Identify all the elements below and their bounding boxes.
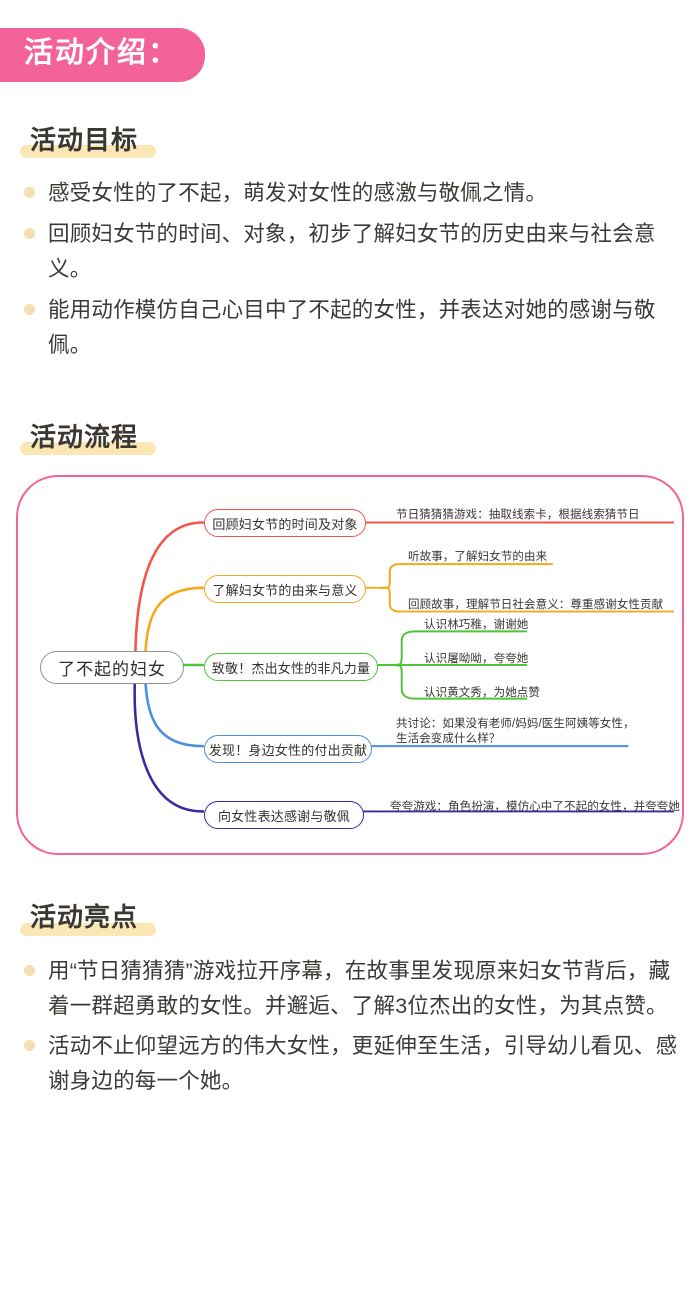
list-item: 感受女性的了不起，萌发对女性的感激与敬佩之情。 <box>24 176 682 211</box>
bullet-dot-icon <box>24 1040 35 1051</box>
mindmap-frame: 了不起的妇女 回顾妇女节的时间及对象 了解妇女节的由来与意义 致敬！杰出女性的非… <box>16 475 684 855</box>
connector-leaf-3-c <box>392 665 416 699</box>
list-item-text: 活动不止仰望远方的伟大女性，更延伸至生活，引导幼儿看见、感谢身边的每一个她。 <box>48 1034 677 1093</box>
connector-branch-5 <box>135 671 203 812</box>
list-item: 能用动作模仿自己心目中了不起的女性，并表达对她的感谢与敬佩。 <box>24 293 682 363</box>
connector-leaf-3-a <box>392 632 416 666</box>
heading-flow: 活动流程 <box>26 423 148 454</box>
mindmap-root-label: 了不起的妇女 <box>58 655 166 680</box>
mindmap-branch-node-2[interactable]: 了解妇女节的由来与意义 <box>204 575 366 603</box>
heading-flow-label: 活动流程 <box>30 422 138 452</box>
connector-leaf-2-a <box>382 564 400 588</box>
heading-goal-label: 活动目标 <box>30 125 138 155</box>
mindmap-branch-label-3: 致敬！杰出女性的非凡力量 <box>212 658 370 677</box>
page-title-badge: 活动介绍： <box>0 28 205 82</box>
mindmap-branch-label-5: 向女性表达感谢与敬佩 <box>218 806 350 825</box>
list-item-text: 用“节日猜猜猜”游戏拉开序幕，在故事里发现原来妇女节背后，藏着一群超勇敢的女性。… <box>48 959 670 1018</box>
connector-leaf-2-b <box>382 588 400 612</box>
bullet-dot-icon <box>24 304 35 315</box>
header-area: 活动介绍： <box>0 0 700 82</box>
mindmap-branch-node-5[interactable]: 向女性表达感谢与敬佩 <box>204 801 364 829</box>
mindmap-branch-node-3[interactable]: 致敬！杰出女性的非凡力量 <box>204 653 378 681</box>
section-goal: 活动目标 感受女性的了不起，萌发对女性的感激与敬佩之情。 回顾妇女节的时间、对象… <box>0 126 700 363</box>
mindmap-branch-node-1[interactable]: 回顾妇女节的时间及对象 <box>204 509 366 537</box>
section-flow: 活动流程 <box>0 423 700 856</box>
mindmap-leaf-2-1: 听故事，了解妇女节的由来 <box>408 550 547 565</box>
bullet-dot-icon <box>24 187 35 198</box>
bullet-dot-icon <box>24 965 35 976</box>
mindmap-leaf-1-1: 节日猜猜猜游戏：抽取线索卡，根据线索猜节日 <box>396 508 640 523</box>
bullet-dot-icon <box>24 228 35 239</box>
heading-goal: 活动目标 <box>26 126 148 157</box>
list-item-text: 回顾妇女节的时间、对象，初步了解妇女节的历史由来与社会意义。 <box>48 222 656 281</box>
mindmap-branch-label-2: 了解妇女节的由来与意义 <box>212 580 357 599</box>
mindmap-branch-label-1: 回顾妇女节的时间及对象 <box>212 514 357 533</box>
mindmap-leaf-3-1: 认识林巧稚，谢谢她 <box>424 618 528 633</box>
list-item-text: 感受女性的了不起，萌发对女性的感激与敬佩之情。 <box>48 181 547 205</box>
goal-bullet-list: 感受女性的了不起，萌发对女性的感激与敬佩之情。 回顾妇女节的时间、对象，初步了解… <box>0 176 700 362</box>
mindmap-leaf-4-1: 共讨论：如果没有老师/妈妈/医生阿姨等女性，生活会变成什么样？ <box>396 717 636 747</box>
highlight-bullet-list: 用“节日猜猜猜”游戏拉开序幕，在故事里发现原来妇女节背后，藏着一群超勇敢的女性。… <box>0 954 700 1099</box>
section-highlight: 活动亮点 用“节日猜猜猜”游戏拉开序幕，在故事里发现原来妇女节背后，藏着一群超勇… <box>0 903 700 1099</box>
list-item-text: 能用动作模仿自己心目中了不起的女性，并表达对她的感谢与敬佩。 <box>48 298 656 357</box>
mindmap-leaf-2-2: 回顾故事，理解节日社会意义：尊重感谢女性贡献 <box>408 598 663 613</box>
mindmap-root-node[interactable]: 了不起的妇女 <box>40 651 184 684</box>
mindmap-branch-label-4: 发现！身边女性的付出贡献 <box>209 740 367 759</box>
mindmap-leaf-3-3: 认识黄文秀，为她点赞 <box>424 686 540 701</box>
mindmap-branch-node-4[interactable]: 发现！身边女性的付出贡献 <box>204 735 372 763</box>
mindmap-leaf-3-2: 认识屠呦呦，夸夸她 <box>424 652 528 667</box>
heading-highlight: 活动亮点 <box>26 903 148 934</box>
list-item: 活动不止仰望远方的伟大女性，更延伸至生活，引导幼儿看见、感谢身边的每一个她。 <box>24 1029 682 1099</box>
list-item: 回顾妇女节的时间、对象，初步了解妇女节的历史由来与社会意义。 <box>24 217 682 287</box>
mindmap-leaf-5-1: 夸夸游戏：角色扮演，模仿心中了不起的女性，并夸夸她 <box>390 800 680 815</box>
list-item: 用“节日猜猜猜”游戏拉开序幕，在故事里发现原来妇女节背后，藏着一群超勇敢的女性。… <box>24 954 682 1024</box>
heading-highlight-label: 活动亮点 <box>30 902 138 932</box>
